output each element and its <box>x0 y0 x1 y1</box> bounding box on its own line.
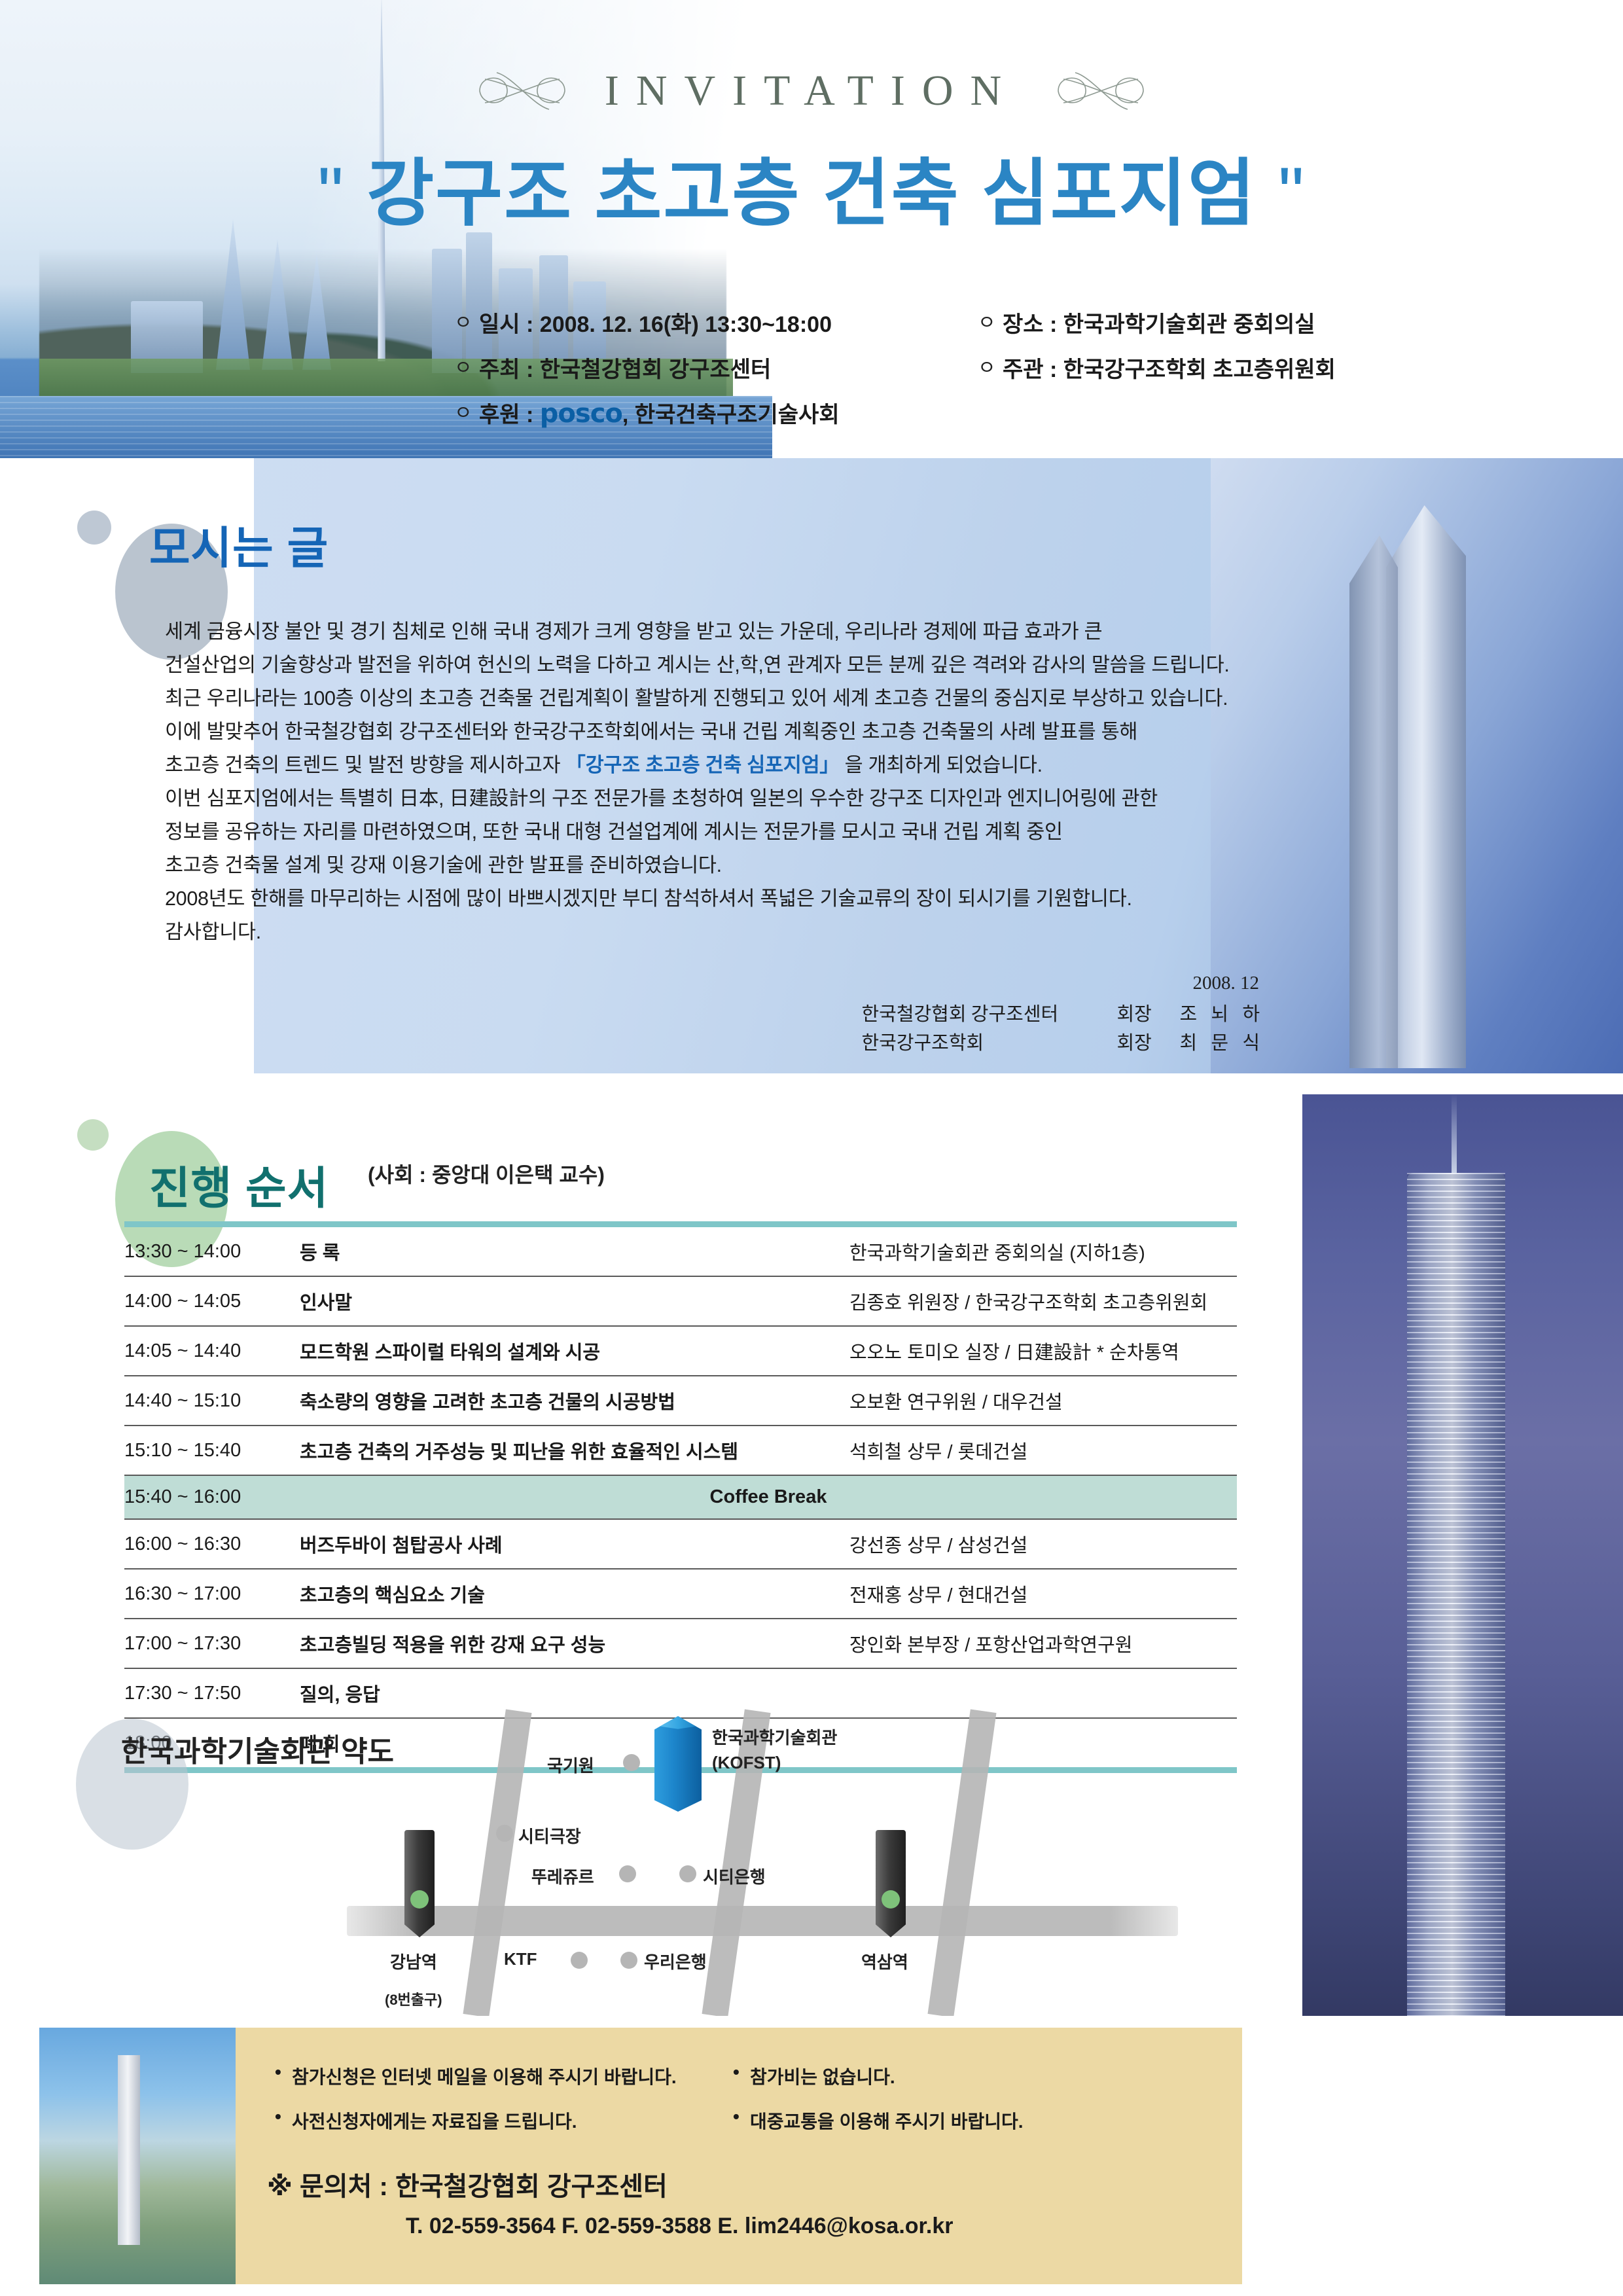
table-row: 17:00 ~ 17:30 초고층빌딩 적용을 위한 강재 요구 성능 장인화 … <box>124 1619 1237 1668</box>
schedule-moderator: (사회 : 중앙대 이은택 교수) <box>368 1158 605 1189</box>
map-label-gukgiwon: 국기원 <box>547 1753 594 1777</box>
map-label-gangnam-station: 강남역 <box>390 1949 437 1973</box>
detail-date-label: 일시 <box>479 312 520 337</box>
row-time: 17:00 ~ 17:30 <box>124 1619 300 1668</box>
signature-name-1: 조 뇌 하 <box>1179 1000 1264 1029</box>
detail-date-value: 2008. 12. 16(화) 13:30~18:00 <box>540 312 832 337</box>
greeting-paragraph-9: 감사합니다. <box>165 916 1251 949</box>
detail-host-label: 주최 <box>479 357 520 382</box>
detail-date: 일시 : 2008. 12. 16(화) 13:30~18:00 <box>452 306 975 338</box>
row-topic: 초고층빌딩 적용을 위한 강재 요구 성능 <box>300 1619 849 1668</box>
row-speaker: 장인화 본부장 / 포항산업과학연구원 <box>849 1619 1237 1668</box>
row-speaker: 강선종 상무 / 삼성건설 <box>849 1519 1237 1569</box>
map-label-citibank: 시티은행 <box>703 1864 766 1888</box>
map-dot-city-theater <box>496 1825 513 1842</box>
greeting-paragraph-3: 최근 우리나라는 100층 이상의 초고층 건축물 건립계획이 활발하게 진행되… <box>165 682 1251 715</box>
table-row: 14:00 ~ 14:05 인사말 김종호 위원장 / 한국강구조학회 초고층위… <box>124 1276 1237 1326</box>
row-time: 14:00 ~ 14:05 <box>124 1276 300 1326</box>
map-label-gangnam-exit: (8번출구) <box>385 1988 442 2009</box>
footer-bullet-3: 사전신청자에게는 자료집을 드립니다. <box>274 2108 732 2134</box>
sail-building-3 <box>302 253 331 370</box>
greeting-section-title: 모시는 글 <box>149 512 329 577</box>
detail-sponsor-label: 후원 <box>479 403 520 427</box>
row-speaker: 석희철 상무 / 롯데건설 <box>849 1426 1237 1475</box>
row-topic: 모드학원 스파이럴 타워의 설계와 시공 <box>300 1326 849 1376</box>
detail-host: 주최 : 한국철강협회 강구조센터 <box>452 351 975 384</box>
map-label-city-theater: 시티극장 <box>518 1823 581 1848</box>
detail-venue: 장소 : 한국과학기술회관 중회의실 <box>975 306 1499 338</box>
detail-sponsor-rest: , 한국건축구조기술사회 <box>622 403 840 427</box>
flourish-left-icon <box>473 62 571 120</box>
row-topic: 인사말 <box>300 1276 849 1326</box>
footer-bullets: 참가신청은 인터넷 메일을 이용해 주시기 바랍니다. 참가비는 없습니다. 사… <box>274 2063 1229 2152</box>
greeting-paragraph-1: 세계 금융시장 불안 및 경기 침체로 인해 국내 경제가 크게 영향을 받고 … <box>165 615 1251 649</box>
footer-bullet-2: 참가비는 없습니다. <box>732 2063 1190 2089</box>
row-time: 13:30 ~ 14:00 <box>124 1225 300 1277</box>
footer-contact-title: ※ 문의처 : 한국철강협회 강구조센터 <box>267 2165 668 2203</box>
greeting-decor-dot-small <box>77 511 111 545</box>
row-topic: 등 록 <box>300 1225 849 1277</box>
row-time: 15:40 ~ 16:00 <box>124 1475 300 1519</box>
row-speaker: 오보환 연구위원 / 대우건설 <box>849 1376 1237 1426</box>
row-time: 15:10 ~ 15:40 <box>124 1426 300 1475</box>
row-speaker: 오오노 토미오 실장 / 日建設計 * 순차통역 <box>849 1326 1237 1376</box>
table-row: 16:00 ~ 16:30 버즈두바이 첨탑공사 사례 강선종 상무 / 삼성건… <box>124 1519 1237 1569</box>
signature-line-1: 한국철강협회 강구조센터 회장 조 뇌 하 <box>861 1000 1264 1029</box>
map-dot-ktf <box>571 1952 588 1969</box>
row-time: 16:30 ~ 17:00 <box>124 1569 300 1619</box>
footer-bullet-row-2: 사전신청자에게는 자료집을 드립니다. 대중교통을 이용해 주시기 바랍니다. <box>274 2108 1229 2134</box>
map-label-woori-bank: 우리은행 <box>644 1949 707 1973</box>
map-label-ktf: KTF <box>504 1949 537 1969</box>
signature-line-2: 한국강구조학회 회장 최 문 식 <box>861 1029 1264 1058</box>
row-time: 14:40 ~ 15:10 <box>124 1376 300 1426</box>
title-open-quote: " <box>317 152 345 234</box>
row-topic: 버즈두바이 첨탑공사 사례 <box>300 1519 849 1569</box>
sail-building-2 <box>262 239 293 370</box>
map-label-yeoksam-station: 역삼역 <box>861 1949 908 1973</box>
greeting-paragraph-5: 이번 심포지엄에서는 특별히 日本, 日建設計의 구조 전문가를 초청하여 일본… <box>165 782 1251 816</box>
map-canvas: 한국과학기술회관 (KOFST) 국기원 시티극장 뚜레쥬르 시티은행 강남역 … <box>288 1702 1224 2029</box>
greeting-highlight-line: 초고층 건축의 트렌드 및 발전 방향을 제시하고자 「강구조 초고층 건축 심… <box>165 749 1251 782</box>
row-time: 16:00 ~ 16:30 <box>124 1519 300 1569</box>
tower-shaft <box>1407 1173 1505 2050</box>
detail-organizer-value: 한국강구조학회 초고층위원회 <box>1063 357 1336 382</box>
row-time: 14:05 ~ 14:40 <box>124 1326 300 1376</box>
schedule-section-title: 진행 순서 <box>149 1152 329 1217</box>
sail-building-1 <box>216 219 250 370</box>
row-topic: 초고층의 핵심요소 기술 <box>300 1569 849 1619</box>
table-row: 14:05 ~ 14:40 모드학원 스파이럴 타워의 설계와 시공 오오노 토… <box>124 1326 1237 1376</box>
map-dot-tous-les-jours <box>619 1865 636 1882</box>
detail-venue-value: 한국과학기술회관 중회의실 <box>1063 312 1315 337</box>
detail-sponsor: 후원 : posco, 한국건축구조기술사회 <box>452 397 1368 429</box>
detail-organizer-label: 주관 <box>1003 357 1044 382</box>
greeting-paragraph-7: 초고층 건축물 설계 및 강재 이용기술에 관한 발표를 준비하였습니다. <box>165 849 1251 882</box>
detail-row-1: 일시 : 2008. 12. 16(화) 13:30~18:00 장소 : 한국… <box>452 306 1577 338</box>
row-topic: 초고층 건축의 거주성능 및 피난을 위한 효율적인 시스템 <box>300 1426 849 1475</box>
greeting-paragraph-6: 정보를 공유하는 자리를 마련하였으며, 또한 국내 대형 건설업계에 계시는 … <box>165 816 1251 849</box>
table-row: 13:30 ~ 14:00 등 록 한국과학기술회관 중회의실 (지하1층) <box>124 1225 1237 1277</box>
kofst-building-icon <box>654 1716 702 1812</box>
map-venue-name: 한국과학기술회관 <box>712 1728 837 1748</box>
row-topic: 축소량의 영향을 고려한 초고층 건물의 시공방법 <box>300 1376 849 1426</box>
detail-row-2: 주최 : 한국철강협회 강구조센터 주관 : 한국강구조학회 초고층위원회 <box>452 351 1577 384</box>
greeting-paragraph-8: 2008년도 한해를 마무리하는 시점에 많이 바쁘시겠지만 부디 참석하셔서 … <box>165 882 1251 916</box>
top-banner: INVITATION " 강구조 초고층 건축 심포지엄 " 일시 : 2008… <box>0 0 1623 458</box>
detail-row-3: 후원 : posco, 한국건축구조기술사회 <box>452 397 1577 429</box>
map-road-vertical-1 <box>463 1710 531 2018</box>
row-topic: Coffee Break <box>300 1475 1237 1519</box>
map-pin-yeoksam <box>876 1830 906 1937</box>
title-text: 강구조 초고층 건축 심포지엄 <box>366 152 1257 234</box>
detail-host-value: 한국철강협회 강구조센터 <box>540 357 772 382</box>
schedule-decor-dot-small <box>77 1119 109 1151</box>
greeting-highlight-prefix: 초고층 건축의 트렌드 및 발전 방향을 제시하고자 <box>165 754 565 776</box>
footer-tower-photo <box>39 2028 236 2284</box>
greeting-paragraph-2: 건설산업의 기술향상과 발전을 위하여 헌신의 노력을 다하고 계시는 산,학,… <box>165 649 1251 682</box>
greeting-highlight-suffix: 을 개최하게 되었습니다. <box>839 754 1042 776</box>
map-road-horizontal <box>347 1906 1178 1936</box>
posco-logo: posco <box>540 399 622 429</box>
greeting-body: 세계 금융시장 불안 및 경기 침체로 인해 국내 경제가 크게 영향을 받고 … <box>165 615 1251 949</box>
signature-role-1: 회장 <box>1116 1000 1179 1029</box>
greeting-paragraph-4: 이에 발맞추어 한국철강협회 강구조센터와 한국강구조학회에서는 국내 건립 계… <box>165 715 1251 749</box>
row-speaker: 김종호 위원장 / 한국강구조학회 초고층위원회 <box>849 1276 1237 1326</box>
row-speaker: 전재홍 상무 / 현대건설 <box>849 1569 1237 1619</box>
signature-role-2: 회장 <box>1116 1029 1179 1058</box>
detail-venue-label: 장소 <box>1003 312 1044 337</box>
flourish-right-icon <box>1052 62 1150 120</box>
signature-org-2: 한국강구조학회 <box>861 1029 1116 1058</box>
page-title: " 강구조 초고층 건축 심포지엄 " <box>0 134 1623 240</box>
greeting-highlight-text: 「강구조 초고층 건축 심포지엄」 <box>565 754 839 776</box>
map-venue-en: (KOFST) <box>712 1753 781 1772</box>
map-dot-citibank <box>679 1865 696 1882</box>
footer-bullet-4: 대중교통을 이용해 주시기 바랍니다. <box>732 2108 1190 2134</box>
invitation-word: INVITATION <box>575 66 1048 116</box>
table-row: 15:10 ~ 15:40 초고층 건축의 거주성능 및 피난을 위한 효율적인… <box>124 1426 1237 1475</box>
twin-tower-photo <box>1211 458 1623 1073</box>
footer-contact-line[interactable]: T. 02-559-3564 F. 02-559-3588 E. lim2446… <box>406 2214 953 2239</box>
event-details: 일시 : 2008. 12. 16(화) 13:30~18:00 장소 : 한국… <box>452 306 1577 442</box>
map-label-venue: 한국과학기술회관 (KOFST) <box>712 1725 837 1775</box>
table-row: 14:40 ~ 15:10 축소량의 영향을 고려한 초고층 건물의 시공방법 … <box>124 1376 1237 1426</box>
map-pin-gangnam <box>404 1830 435 1937</box>
footer-bullet-row-1: 참가신청은 인터넷 메일을 이용해 주시기 바랍니다. 참가비는 없습니다. <box>274 2063 1229 2089</box>
signature-block: 2008. 12 한국철강협회 강구조센터 회장 조 뇌 하 한국강구조학회 회… <box>861 969 1264 1058</box>
signature-date: 2008. 12 <box>861 969 1264 997</box>
signature-org-1: 한국철강협회 강구조센터 <box>861 1000 1116 1029</box>
table-row-break: 15:40 ~ 16:00 Coffee Break <box>124 1475 1237 1519</box>
invitation-heading: INVITATION <box>0 62 1623 120</box>
title-close-quote: " <box>1278 152 1306 234</box>
detail-organizer: 주관 : 한국강구조학회 초고층위원회 <box>975 351 1499 384</box>
map-dot-woori-bank <box>620 1952 637 1969</box>
signature-name-2: 최 문 식 <box>1179 1029 1264 1058</box>
table-row: 16:30 ~ 17:00 초고층의 핵심요소 기술 전재홍 상무 / 현대건설 <box>124 1569 1237 1619</box>
map-label-tous-les-jours: 뚜레쥬르 <box>531 1864 594 1888</box>
map-dot-gukgiwon <box>623 1754 640 1771</box>
row-speaker: 한국과학기술회관 중회의실 (지하1층) <box>849 1225 1237 1277</box>
footer-bullet-1: 참가신청은 인터넷 메일을 이용해 주시기 바랍니다. <box>274 2063 732 2089</box>
map-road-vertical-3 <box>927 1710 996 2018</box>
